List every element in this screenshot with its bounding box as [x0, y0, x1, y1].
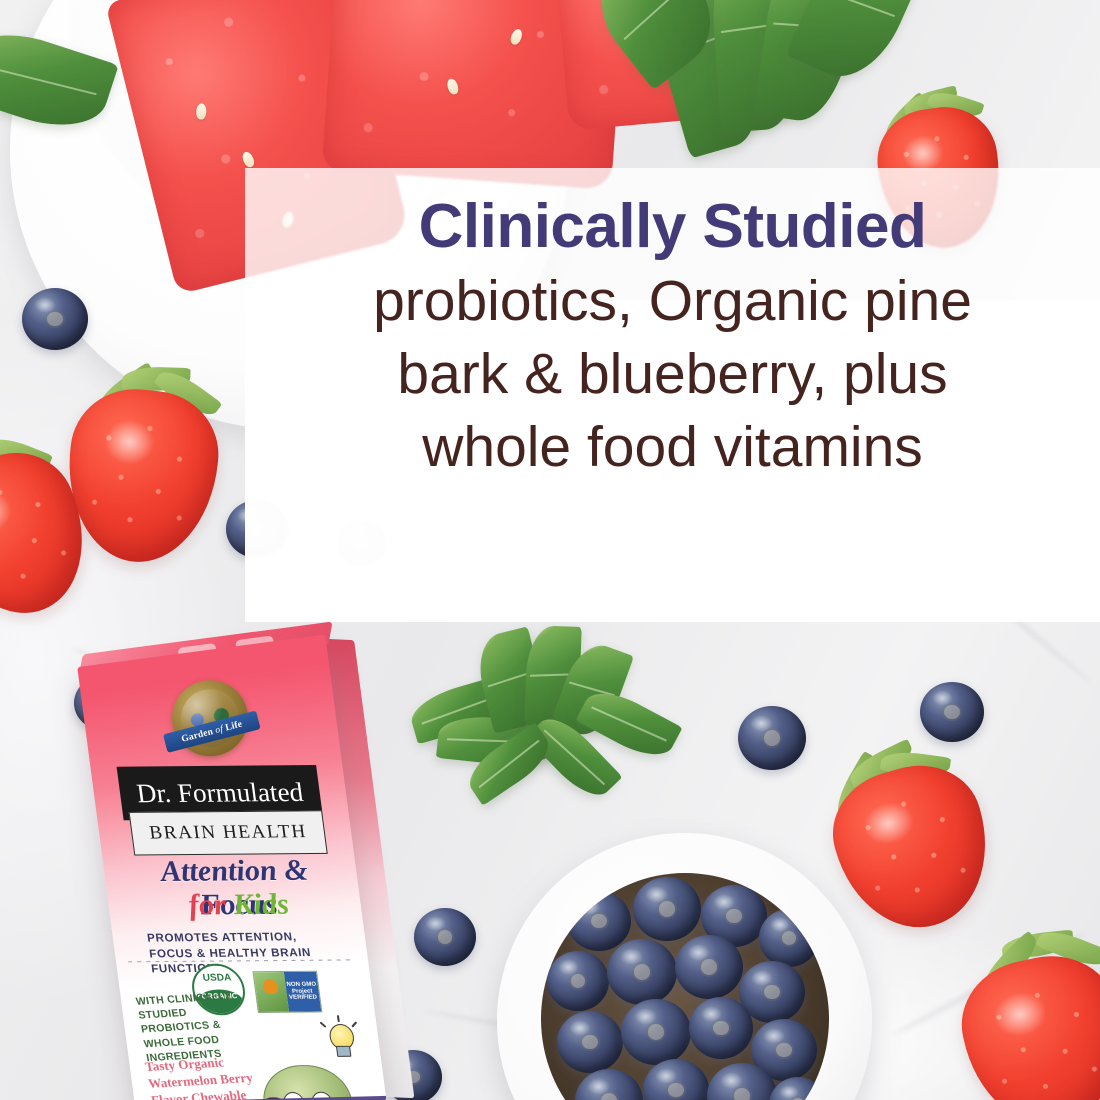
brand-life: Life	[224, 719, 243, 733]
subline-1: probiotics, Organic pine	[373, 265, 972, 338]
brain-health-badge: BRAIN HEALTH	[129, 810, 328, 855]
lightbulb-icon	[324, 1024, 359, 1062]
dr-formulated-text: Dr. Formulated	[135, 777, 305, 809]
green-leaves-cluster	[430, 640, 660, 810]
marketing-copy: Clinically Studied probiotics, Organic p…	[245, 168, 1100, 622]
butterfly-icon	[254, 972, 289, 1012]
product-lifestyle-image: Garden of Life Dr. Formulated BRAIN HEAL…	[0, 0, 1100, 1100]
product-package: Garden of Life Dr. Formulated BRAIN HEAL…	[59, 626, 448, 1100]
blueberry	[22, 288, 88, 350]
non-gmo-text: NON GMO Project VERIFIED	[283, 972, 321, 1012]
blueberry	[738, 706, 806, 770]
audience-kids: Kids	[231, 888, 291, 921]
subline-3: whole food vitamins	[422, 411, 923, 484]
usda-top-text: USDA	[192, 972, 242, 983]
audience-for: for	[187, 888, 228, 921]
subline-2: bark & blueberry, plus	[397, 338, 947, 411]
non-gmo-verified-seal-icon: NON GMO Project VERIFIED	[252, 971, 322, 1013]
brand-of: of	[214, 724, 224, 736]
brand-garden: Garden	[180, 727, 214, 745]
audience-label: for Kids	[121, 887, 357, 923]
flavor-note: Tasty Organic Watermelon Berry Flavor Ch…	[144, 1051, 281, 1100]
strawberry	[950, 944, 1100, 1100]
brain-health-text: BRAIN HEALTH	[148, 821, 308, 844]
headline: Clinically Studied	[419, 192, 927, 261]
